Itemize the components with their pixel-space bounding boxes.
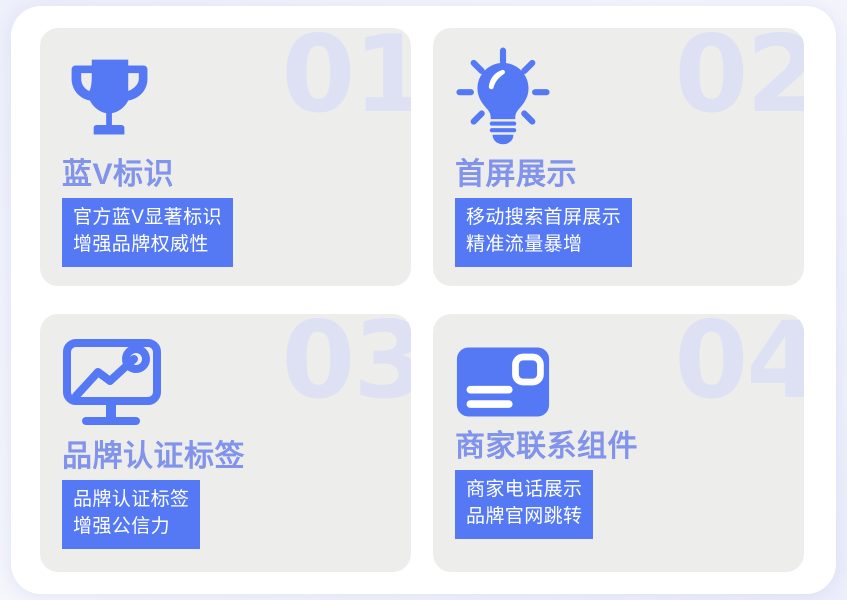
feature-card-02[interactable]: 02 [433,28,804,286]
trophy-icon [62,52,158,148]
card-number-badge: 01 [281,28,411,128]
card-title: 蓝V标识 [62,158,411,192]
feature-card-03[interactable]: 03 品牌认证标签 品牌认证标签 增强公信力 [40,314,411,572]
badge-line-2: 增强公信力 [73,513,189,541]
card-number-badge: 04 [674,314,804,414]
badge-line-2: 增强品牌权威性 [73,231,222,259]
badge-line-1: 商家电话展示 [466,476,582,504]
card-number-badge: 03 [281,314,411,414]
badge-line-1: 移动搜索首屏展示 [466,204,621,232]
badge-line-2: 品牌官网跳转 [466,503,582,531]
card-badge: 官方蓝V显著标识 增强品牌权威性 [62,198,233,267]
card-number-badge: 02 [674,28,804,128]
badge-line-1: 品牌认证标签 [73,486,189,514]
monitor-chart-icon [62,338,162,430]
card-title: 商家联系组件 [455,430,804,464]
contact-card-icon [455,344,551,420]
feature-card-grid: 01 蓝V标识 官方蓝V显著标识 增强品牌权威性 02 [40,28,816,572]
card-title: 首屏展示 [455,158,804,192]
lightbulb-icon [451,44,555,148]
cards-panel: 01 蓝V标识 官方蓝V显著标识 增强品牌权威性 02 [11,6,836,594]
feature-card-01[interactable]: 01 蓝V标识 官方蓝V显著标识 增强品牌权威性 [40,28,411,286]
card-badge: 品牌认证标签 增强公信力 [62,480,200,549]
feature-card-04[interactable]: 04 商家联系组件 商家电话展示 品牌官网跳转 [433,314,804,572]
badge-line-1: 官方蓝V显著标识 [73,204,222,232]
card-badge: 移动搜索首屏展示 精准流量暴增 [455,198,632,267]
card-badge: 商家电话展示 品牌官网跳转 [455,470,593,539]
badge-line-2: 精准流量暴增 [466,231,621,259]
page-root: 01 蓝V标识 官方蓝V显著标识 增强品牌权威性 02 [0,0,847,600]
card-title: 品牌认证标签 [62,440,411,474]
